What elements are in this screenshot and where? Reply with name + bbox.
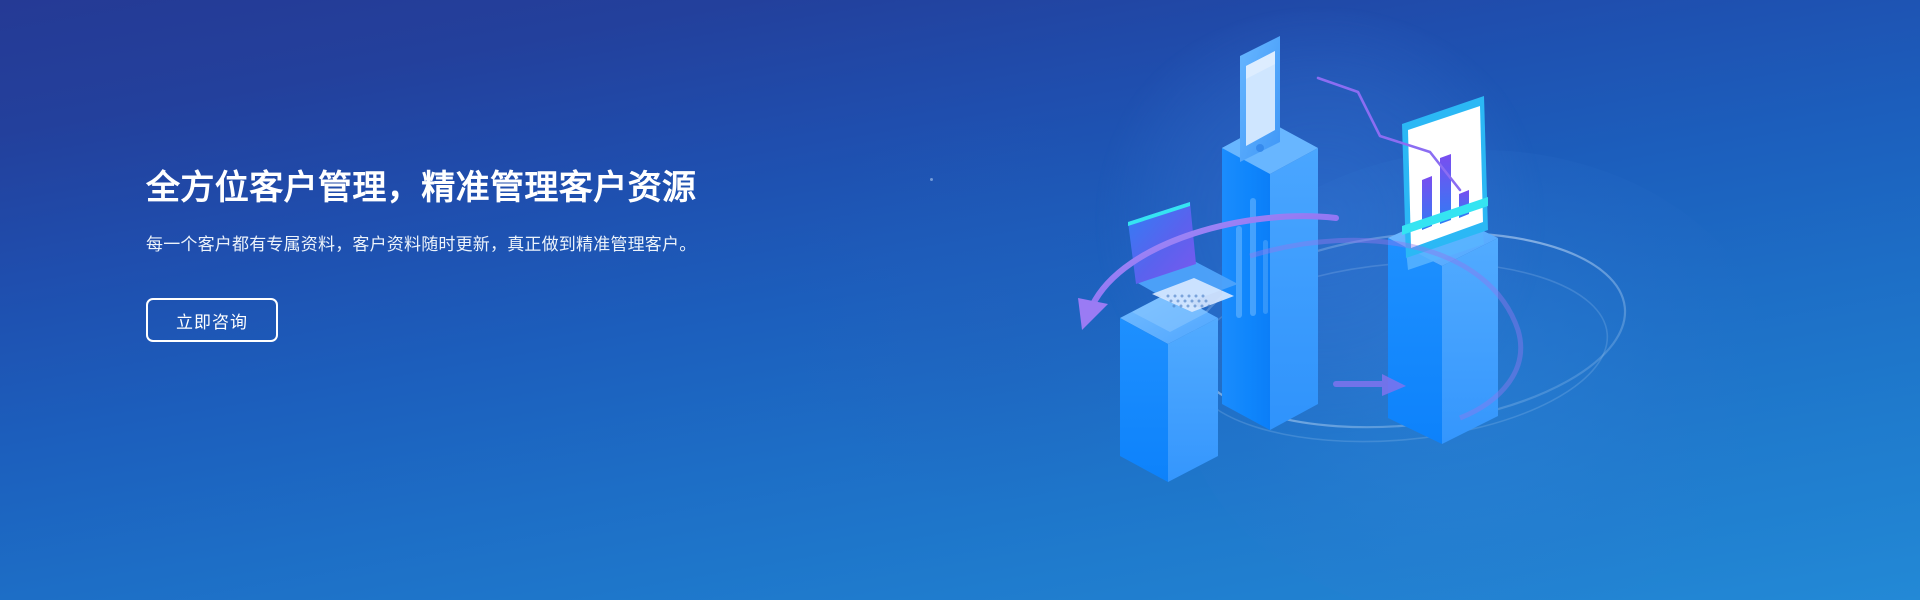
monitor-chart-device — [1402, 96, 1488, 270]
page-title: 全方位客户管理，精准管理客户资源 — [146, 166, 786, 210]
background-speck — [930, 178, 933, 181]
hero-banner: 全方位客户管理，精准管理客户资源 每一个客户都有专属资料，客户资料随时更新，真正… — [0, 0, 1920, 600]
tablet-device — [1240, 36, 1280, 162]
hero-illustration — [1130, 30, 1690, 570]
center-pedestal — [1222, 122, 1318, 430]
hero-copy-block: 全方位客户管理，精准管理客户资源 每一个客户都有专属资料，客户资料随时更新，真正… — [146, 166, 786, 342]
hero-subtitle: 每一个客户都有专属资料，客户资料随时更新，真正做到精准管理客户。 — [146, 232, 732, 258]
left-pedestal — [1120, 292, 1218, 482]
consult-now-button[interactable]: 立即咨询 — [146, 298, 278, 342]
